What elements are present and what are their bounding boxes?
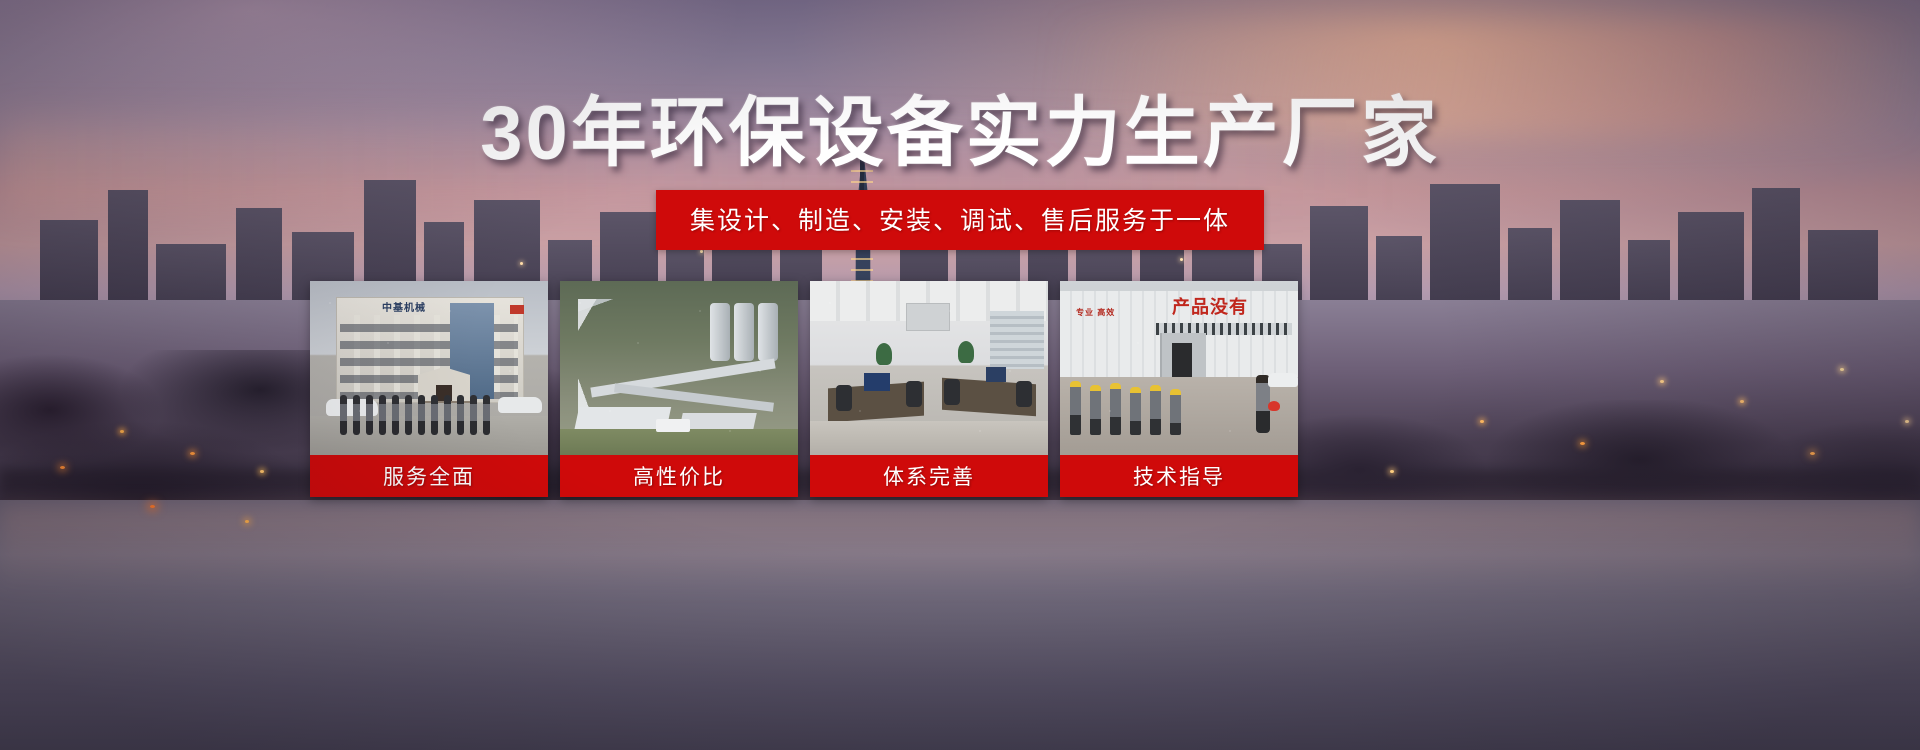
feature-card-list: 中基机械 服务全面 bbox=[310, 281, 1550, 497]
staff-lineup bbox=[340, 395, 520, 437]
company-office-building-photo: 中基机械 bbox=[310, 281, 548, 455]
monitor-icon bbox=[986, 367, 1006, 382]
office-staff-working-photo bbox=[810, 281, 1048, 455]
factory-slogan-text: 专业 高效 bbox=[1076, 307, 1115, 318]
banner-subtitle-bar: 集设计、制造、安装、调试、售后服务于一体 bbox=[656, 190, 1264, 250]
building-sign-text: 中基机械 bbox=[382, 299, 426, 314]
factory-yard-workers-photo: 产品没有 专业 高效 bbox=[1060, 281, 1298, 455]
feature-card-caption: 技术指导 bbox=[1133, 461, 1225, 491]
feature-card-caption-bar: 体系完善 bbox=[810, 455, 1048, 497]
aerial-factory-plant-photo bbox=[560, 281, 798, 455]
feature-card-caption-bar: 高性价比 bbox=[560, 455, 798, 497]
feature-card-caption: 高性价比 bbox=[633, 461, 725, 491]
car-icon bbox=[1268, 373, 1298, 387]
plant-icon bbox=[958, 341, 974, 363]
banner-headline: 30年环保设备实力生产厂家 bbox=[0, 96, 1920, 172]
worker-lineup bbox=[1070, 373, 1220, 435]
feature-card-caption: 体系完善 bbox=[883, 461, 975, 491]
monitor-icon bbox=[864, 373, 890, 391]
banner-subtitle-text: 集设计、制造、安装、调试、售后服务于一体 bbox=[690, 201, 1230, 237]
flag-icon bbox=[510, 305, 524, 314]
feature-card-caption-bar: 技术指导 bbox=[1060, 455, 1298, 497]
feature-card[interactable]: 高性价比 bbox=[560, 281, 798, 497]
helmet-icon bbox=[1268, 401, 1280, 411]
factory-banner-text: 产品没有 bbox=[1172, 293, 1248, 319]
plant-icon bbox=[876, 343, 892, 365]
feature-card-caption: 服务全面 bbox=[383, 461, 475, 491]
feature-card[interactable]: 产品没有 专业 高效 技术指导 bbox=[1060, 281, 1298, 497]
hero-banner: 30年环保设备实力生产厂家 集设计、制造、安装、调试、售后服务于一体 中基机械 bbox=[0, 0, 1920, 750]
truck-icon bbox=[656, 419, 690, 432]
feature-card-caption-bar: 服务全面 bbox=[310, 455, 548, 497]
feature-card[interactable]: 体系完善 bbox=[810, 281, 1048, 497]
feature-card[interactable]: 中基机械 服务全面 bbox=[310, 281, 548, 497]
